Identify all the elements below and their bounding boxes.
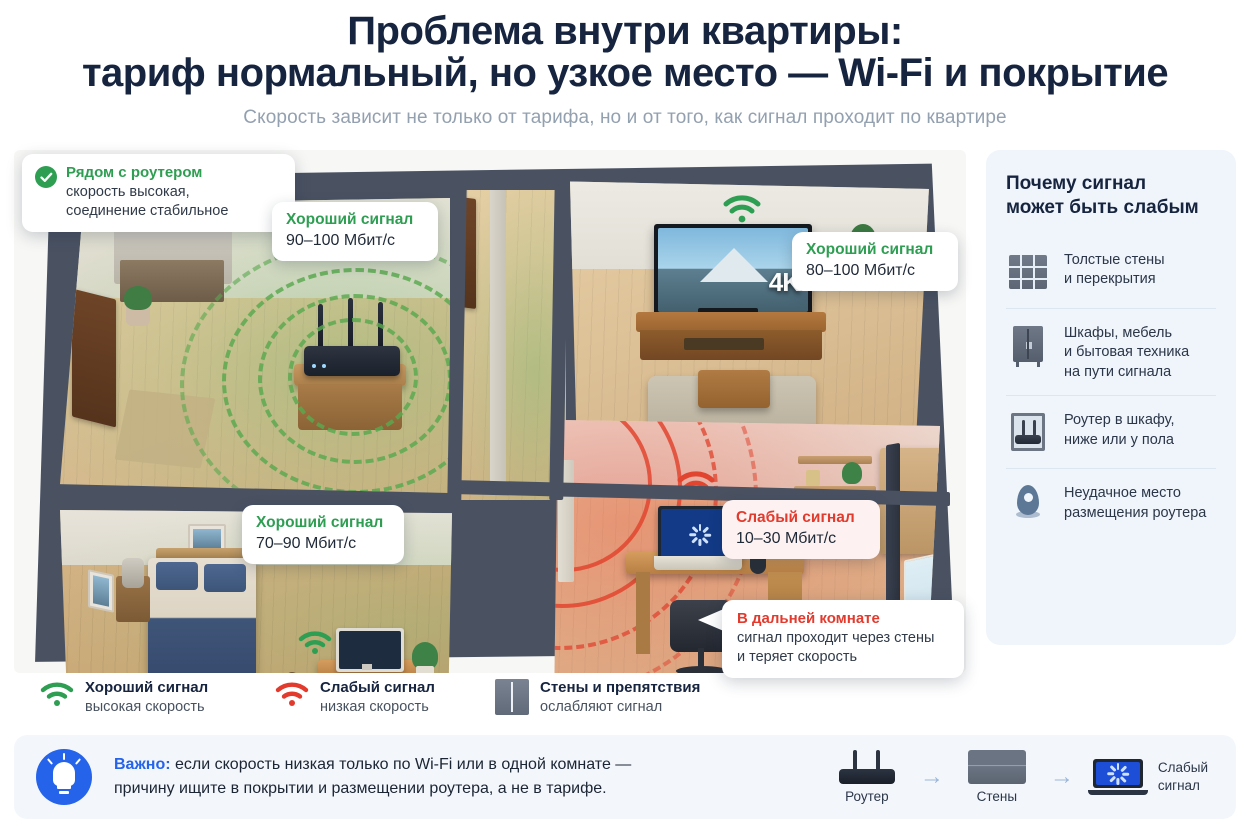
page-header: Проблема внутри квартиры: тариф нормальн… xyxy=(0,0,1250,129)
callout-far-room-line2: и теряет скорость xyxy=(737,648,949,667)
sidebar-item-bad-location-label: Неудачное место размещения роутера xyxy=(1064,482,1206,523)
tv-screen-frame: 4K xyxy=(654,224,812,316)
pill-office-label: Слабый сигнал xyxy=(736,508,866,528)
sidebar-item-bad-location[interactable]: Неудачное место размещения роутера xyxy=(1006,468,1216,541)
plant-pot-bedroom xyxy=(416,666,434,673)
thick-wall-icon xyxy=(1006,249,1050,295)
pill-bedroom-value: 70–90 Мбит/с xyxy=(256,534,390,555)
furniture-line1: Шкафы, мебель xyxy=(1064,325,1172,341)
map-pin-icon-tip xyxy=(1021,502,1035,515)
footer-flow-diagram: Роутер → Стены → xyxy=(828,750,1214,804)
router-icon-antenna-left xyxy=(1022,420,1025,436)
router-placement-line1: Роутер в шкафу, xyxy=(1064,412,1175,428)
entry-door xyxy=(72,289,116,428)
callout-near-router-line1: скорость высокая, xyxy=(66,183,280,202)
wall-picture-image xyxy=(193,529,221,549)
content-stage: 4K xyxy=(14,150,1236,673)
legend-item-weak: Слабый сигнал низкая скорость xyxy=(275,678,495,716)
sidebar-title-line2: может быть слабым xyxy=(1006,197,1199,218)
legend-item-good: Хороший сигнал высокая скорость xyxy=(40,678,275,716)
thick-walls-line1: Толстые стены xyxy=(1064,252,1165,268)
legend-weak-sub: низкая скорость xyxy=(320,698,435,717)
sidebar-title-line1: Почему сигнал xyxy=(1006,173,1146,194)
thick-wall-icon-shape xyxy=(1009,255,1047,289)
pill-office-value: 10–30 Мбит/с xyxy=(736,529,866,550)
laptop-loading-spinner-icon xyxy=(1107,763,1129,785)
pill-office: Слабый сигнал 10–30 Мбит/с xyxy=(722,500,880,559)
router-in-cabinet-icon xyxy=(1006,409,1050,455)
lightbulb-base-2 xyxy=(59,791,69,794)
footer-note-line1: Важно: если скорость низкая только по Wi… xyxy=(114,753,631,777)
legend-item-good-text: Хороший сигнал высокая скорость xyxy=(85,678,208,716)
shelf-book xyxy=(806,470,820,486)
pill-bedroom: Хороший сигнал 70–90 Мбит/с xyxy=(242,505,404,564)
office-desk-leg-left xyxy=(636,572,650,654)
footer-note-line1-rest: если скорость низкая только по Wi-Fi или… xyxy=(171,756,632,773)
page-title-line1: Проблема внутри квартиры: xyxy=(0,10,1250,52)
lightbulb-glass xyxy=(53,762,75,786)
bad-location-line2: размещения роутера xyxy=(1064,505,1206,521)
tv-mountain-graphic xyxy=(700,248,768,282)
office-chair-base xyxy=(676,666,728,673)
legend-item-weak-text: Слабый сигнал низкая скорость xyxy=(320,678,435,716)
sidebar-item-thick-walls-label: Толстые стены и перекрытия xyxy=(1064,249,1165,290)
footer-note-line2: причину ищите в покрытии и размещении ро… xyxy=(114,777,631,801)
flow-step-router: Роутер xyxy=(828,750,906,804)
callout-far-room-line1: сигнал проходит через стены xyxy=(737,629,949,648)
pillow-left xyxy=(156,562,198,590)
office-shelf-top xyxy=(798,456,872,464)
pill-living-room: Хороший сигнал 90–100 Мбит/с xyxy=(272,202,438,261)
wall-picture-side-image xyxy=(93,575,109,606)
sidebar-panel: Почему сигнал может быть слабым Толстые … xyxy=(986,150,1236,645)
pill-tv-room: Хороший сигнал 80–100 Мбит/с xyxy=(792,232,958,291)
pill-tv-label: Хороший сигнал xyxy=(806,240,944,260)
laptop-icon-display xyxy=(1096,762,1140,785)
weak-signal-line2: сигнал xyxy=(1158,778,1200,793)
sidebar-title: Почему сигнал может быть слабым xyxy=(1006,172,1216,220)
coffee-table xyxy=(698,370,770,408)
pill-bedroom-label: Хороший сигнал xyxy=(256,513,390,533)
laptop-loading-icon xyxy=(1088,759,1148,795)
callout-near-router: Рядом с роутером скорость высокая, соеди… xyxy=(22,154,295,232)
flow-step-walls-label: Стены xyxy=(977,789,1017,804)
lightbulb-ray-top xyxy=(63,753,65,760)
flow-step-weak-signal-label: Слабый сигнал xyxy=(1158,759,1208,795)
legend-item-walls: Стены и препятствия ослабляют сигнал xyxy=(495,678,700,716)
footer-note-text: Важно: если скорость низкая только по Wi… xyxy=(114,753,631,802)
arrow-right-icon-2: → xyxy=(1050,765,1074,789)
footer-note-bold: Важно: xyxy=(114,756,171,773)
sidebar-item-furniture[interactable]: Шкафы, мебель и бытовая техника на пути … xyxy=(1006,308,1216,395)
flow-step-walls: Стены xyxy=(958,750,1036,804)
pill-living-label: Хороший сигнал xyxy=(286,210,424,230)
wall-block-icon xyxy=(495,679,529,715)
weak-signal-line1: Слабый xyxy=(1158,760,1208,775)
map-pin-icon xyxy=(1006,482,1050,528)
wifi-red-icon xyxy=(275,681,309,713)
page-subtitle: Скорость зависит не только от тарифа, но… xyxy=(0,107,1250,129)
cabinet-icon xyxy=(1006,322,1050,368)
bad-location-line1: Неудачное место xyxy=(1064,485,1181,501)
router-icon-antenna-right xyxy=(1033,420,1036,436)
wifi-green-icon-tv xyxy=(722,194,762,229)
plant-leaf-office xyxy=(842,462,862,484)
tv-screen: 4K xyxy=(658,228,808,312)
page-title-line2: тариф нормальный, но узкое место — Wi-Fi… xyxy=(0,52,1250,94)
lightbulb-base-1 xyxy=(57,785,71,789)
legend-walls-title: Стены и препятствия xyxy=(540,678,700,698)
lightbulb-icon xyxy=(36,749,92,805)
wifi-green-icon xyxy=(40,681,74,713)
sidebar-item-thick-walls[interactable]: Толстые стены и перекрытия xyxy=(1006,236,1216,308)
legend-weak-title: Слабый сигнал xyxy=(320,678,435,698)
lightbulb-ray-left xyxy=(47,758,53,765)
pill-tv-value: 80–100 Мбит/с xyxy=(806,261,944,282)
router-icon xyxy=(836,750,898,784)
pillow-right xyxy=(204,564,246,592)
wifi-green-icon-bedroom xyxy=(298,630,332,661)
footer-note-bar: Важно: если скорость низкая только по Wi… xyxy=(14,735,1236,819)
router-icon-chassis xyxy=(839,769,895,784)
flow-step-weak-signal: Слабый сигнал xyxy=(1088,759,1208,795)
laptop-icon-base xyxy=(1088,790,1148,795)
cabinet-leg-right xyxy=(1037,362,1040,367)
legend-good-sub: высокая скорость xyxy=(85,698,208,717)
sidebar-item-router-placement-label: Роутер в шкафу, ниже или у пола xyxy=(1064,409,1175,450)
callout-near-router-heading: Рядом с роутером xyxy=(66,164,280,183)
laptop-icon-screen xyxy=(1093,759,1143,788)
legend-item-walls-text: Стены и препятствия ослабляют сигнал xyxy=(540,678,700,716)
router-placement-line2: ниже или у пола xyxy=(1064,432,1174,448)
cabinet-leg-left xyxy=(1016,362,1019,367)
loading-spinner-icon xyxy=(689,524,711,546)
furniture-line2: и бытовая техника xyxy=(1064,344,1189,360)
thick-walls-line2: и перекрытия xyxy=(1064,271,1156,287)
pill-living-value: 90–100 Мбит/с xyxy=(286,231,424,252)
cabinet-icon-shape xyxy=(1013,326,1043,362)
legend-row: Хороший сигнал высокая скорость Слабый с… xyxy=(40,678,700,716)
plant-leaf-living xyxy=(124,286,152,310)
nightstand-lamp xyxy=(122,558,144,588)
lightbulb-ray-right xyxy=(75,758,81,765)
callout-far-room: В дальней комнате сигнал проходит через … xyxy=(722,600,964,678)
wall-picture-side xyxy=(88,569,114,613)
router-icon-body xyxy=(1015,435,1041,444)
check-circle-icon xyxy=(35,166,57,188)
infographic-page: Проблема внутри квартиры: тариф нормальн… xyxy=(0,0,1250,833)
flow-step-router-label: Роутер xyxy=(845,789,889,804)
arrow-right-icon-1: → xyxy=(920,765,944,789)
router-cabinet-box xyxy=(1011,413,1045,451)
tv-console-drawer xyxy=(684,338,764,350)
furniture-line3: на пути сигнала xyxy=(1064,364,1171,380)
tv-console-top xyxy=(636,312,826,332)
sidebar-item-router-placement[interactable]: Роутер в шкафу, ниже или у пола xyxy=(1006,395,1216,468)
office-curtain xyxy=(886,443,900,605)
corridor-partition xyxy=(490,190,506,490)
legend-walls-sub: ослабляют сигнал xyxy=(540,698,700,717)
sidebar-item-furniture-label: Шкафы, мебель и бытовая техника на пути … xyxy=(1064,322,1189,382)
callout-far-room-heading: В дальней комнате xyxy=(737,610,949,629)
callout-near-router-line2: соединение стабильное xyxy=(66,202,280,221)
wall-icon xyxy=(968,750,1026,784)
monitor-stand xyxy=(362,664,372,670)
legend-good-title: Хороший сигнал xyxy=(85,678,208,698)
